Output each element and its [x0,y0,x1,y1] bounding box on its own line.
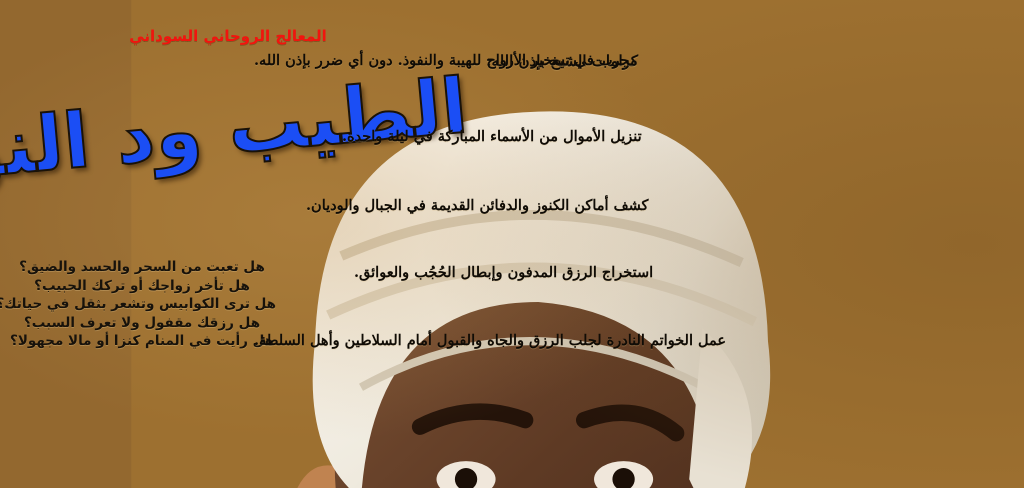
tagline-text: المعالج الروحاني السوداني [128,27,328,45]
service-item-2: كشف أماكن الكنوز والدفائن القديمة في الج… [254,197,806,214]
service-item-3: استخراج الرزق المدفون وإبطال الحُجُب وال… [254,264,854,281]
questions-block: هل تعبت من السحر والحسد والضيق؟ هل تأخر … [8,258,276,351]
question-4: هل رزقك مقفول ولا تعرف السبب؟ [8,314,276,333]
question-2: هل تأخر زواجك أو تركك الحبيب؟ [8,277,276,296]
service-item-4: عمل الخواتم النادرة لجلب الرزق والجاه وا… [254,332,754,349]
portrait-illustration [0,0,1024,488]
healer-portrait-photo [0,0,1024,488]
question-3: هل ترى الكوابيس وتشعر بثقل في حياتك؟ [8,295,276,314]
service-item-1: تنزيل الأموال من الأسماء المباركة في ليل… [254,128,842,145]
poster-canvas: المعالج الروحاني السوداني الطيب ود النور… [0,0,1024,488]
question-1: هل تعبت من السحر والحسد والضيق؟ [8,258,276,277]
question-5: هل رأيت في المنام كنزا أو مالا مجهولا؟ [8,332,276,351]
service-item-5: مجرب في تسخير الأرواح للهيبة والنفوذ. دو… [254,52,754,69]
